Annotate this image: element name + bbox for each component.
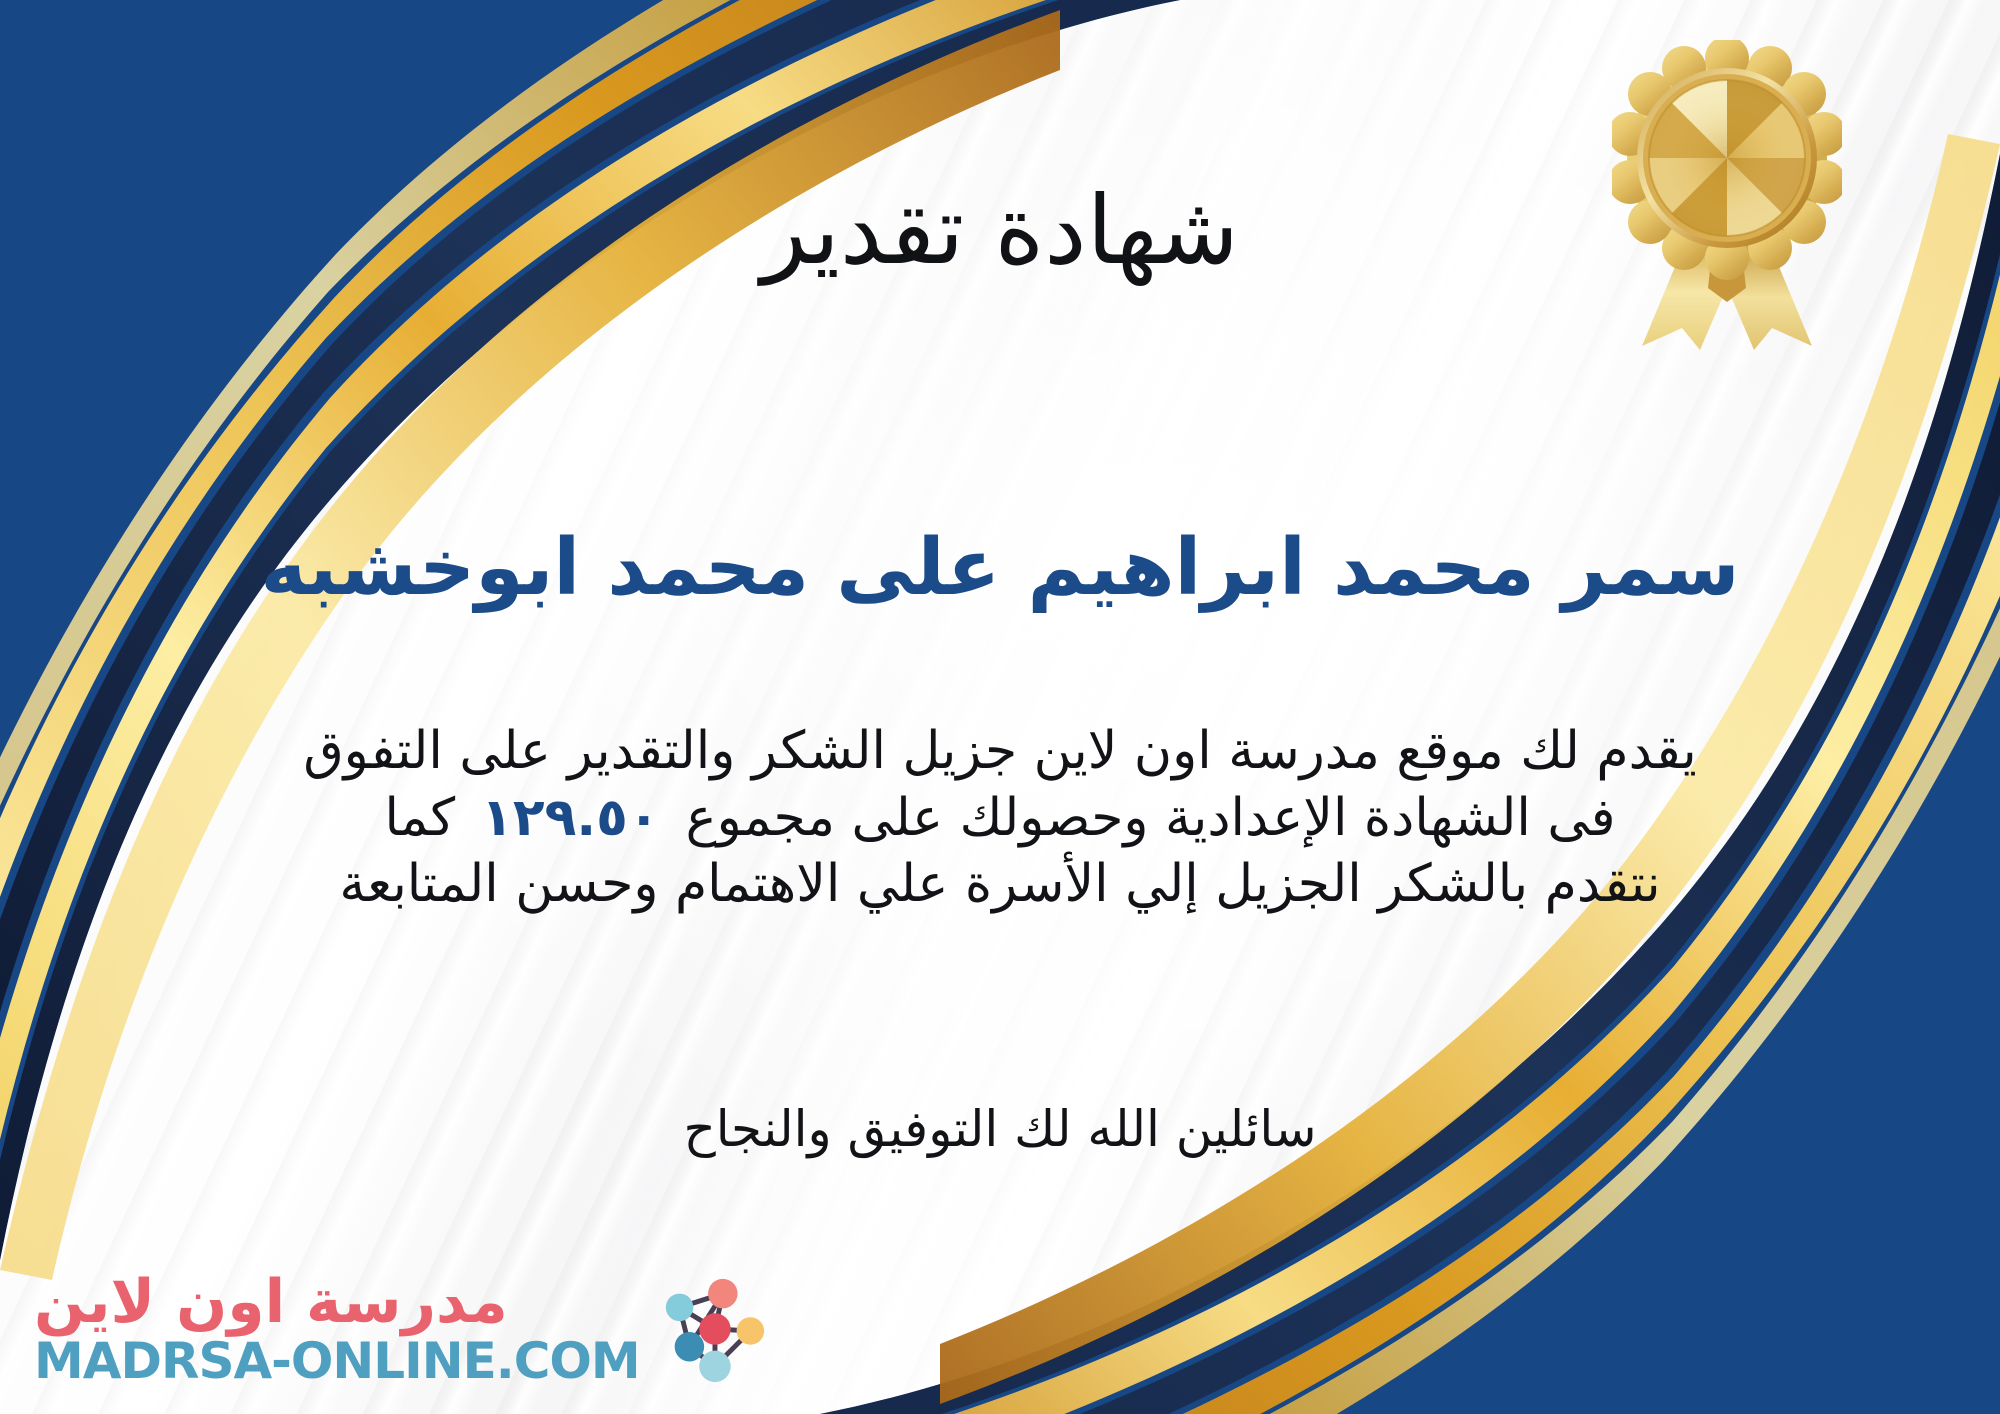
certificate-content: شهادة تقدير سمر محمد ابراهيم على محمد اب… bbox=[0, 0, 2000, 1414]
body-line-2-suffix: كما bbox=[384, 788, 455, 848]
brand-text-block: مدرسة اون لاين MADRSA-ONLINE.COM bbox=[34, 1272, 640, 1386]
brand-domain: MADRSA-ONLINE.COM bbox=[34, 1336, 640, 1386]
score-value: ١٢٩.٥٠ bbox=[455, 788, 685, 848]
certificate-title: شهادة تقدير bbox=[0, 182, 2000, 282]
closing-line: سائلين الله لك التوفيق والنجاح bbox=[0, 1100, 2000, 1158]
body-line-2-prefix: فى الشهادة الإعدادية وحصولك على مجموع bbox=[686, 788, 1616, 848]
student-name: سمر محمد ابراهيم على محمد ابوخشبه bbox=[0, 524, 2000, 614]
body-line-3: نتقدم بالشكر الجزيل إلي الأسرة علي الاهت… bbox=[90, 851, 1910, 918]
body-line-2: فى الشهادة الإعدادية وحصولك على مجموع١٢٩… bbox=[90, 785, 1910, 852]
certificate-canvas: شهادة تقدير سمر محمد ابراهيم على محمد اب… bbox=[0, 0, 2000, 1414]
body-line-1: يقدم لك موقع مدرسة اون لاين جزيل الشكر و… bbox=[90, 718, 1910, 785]
brand-logo[interactable]: مدرسة اون لاين MADRSA-ONLINE.COM bbox=[34, 1270, 772, 1388]
certificate-body-text: يقدم لك موقع مدرسة اون لاين جزيل الشكر و… bbox=[90, 718, 1910, 918]
network-graph-icon bbox=[654, 1270, 772, 1388]
brand-arabic-name: مدرسة اون لاين bbox=[34, 1272, 508, 1332]
